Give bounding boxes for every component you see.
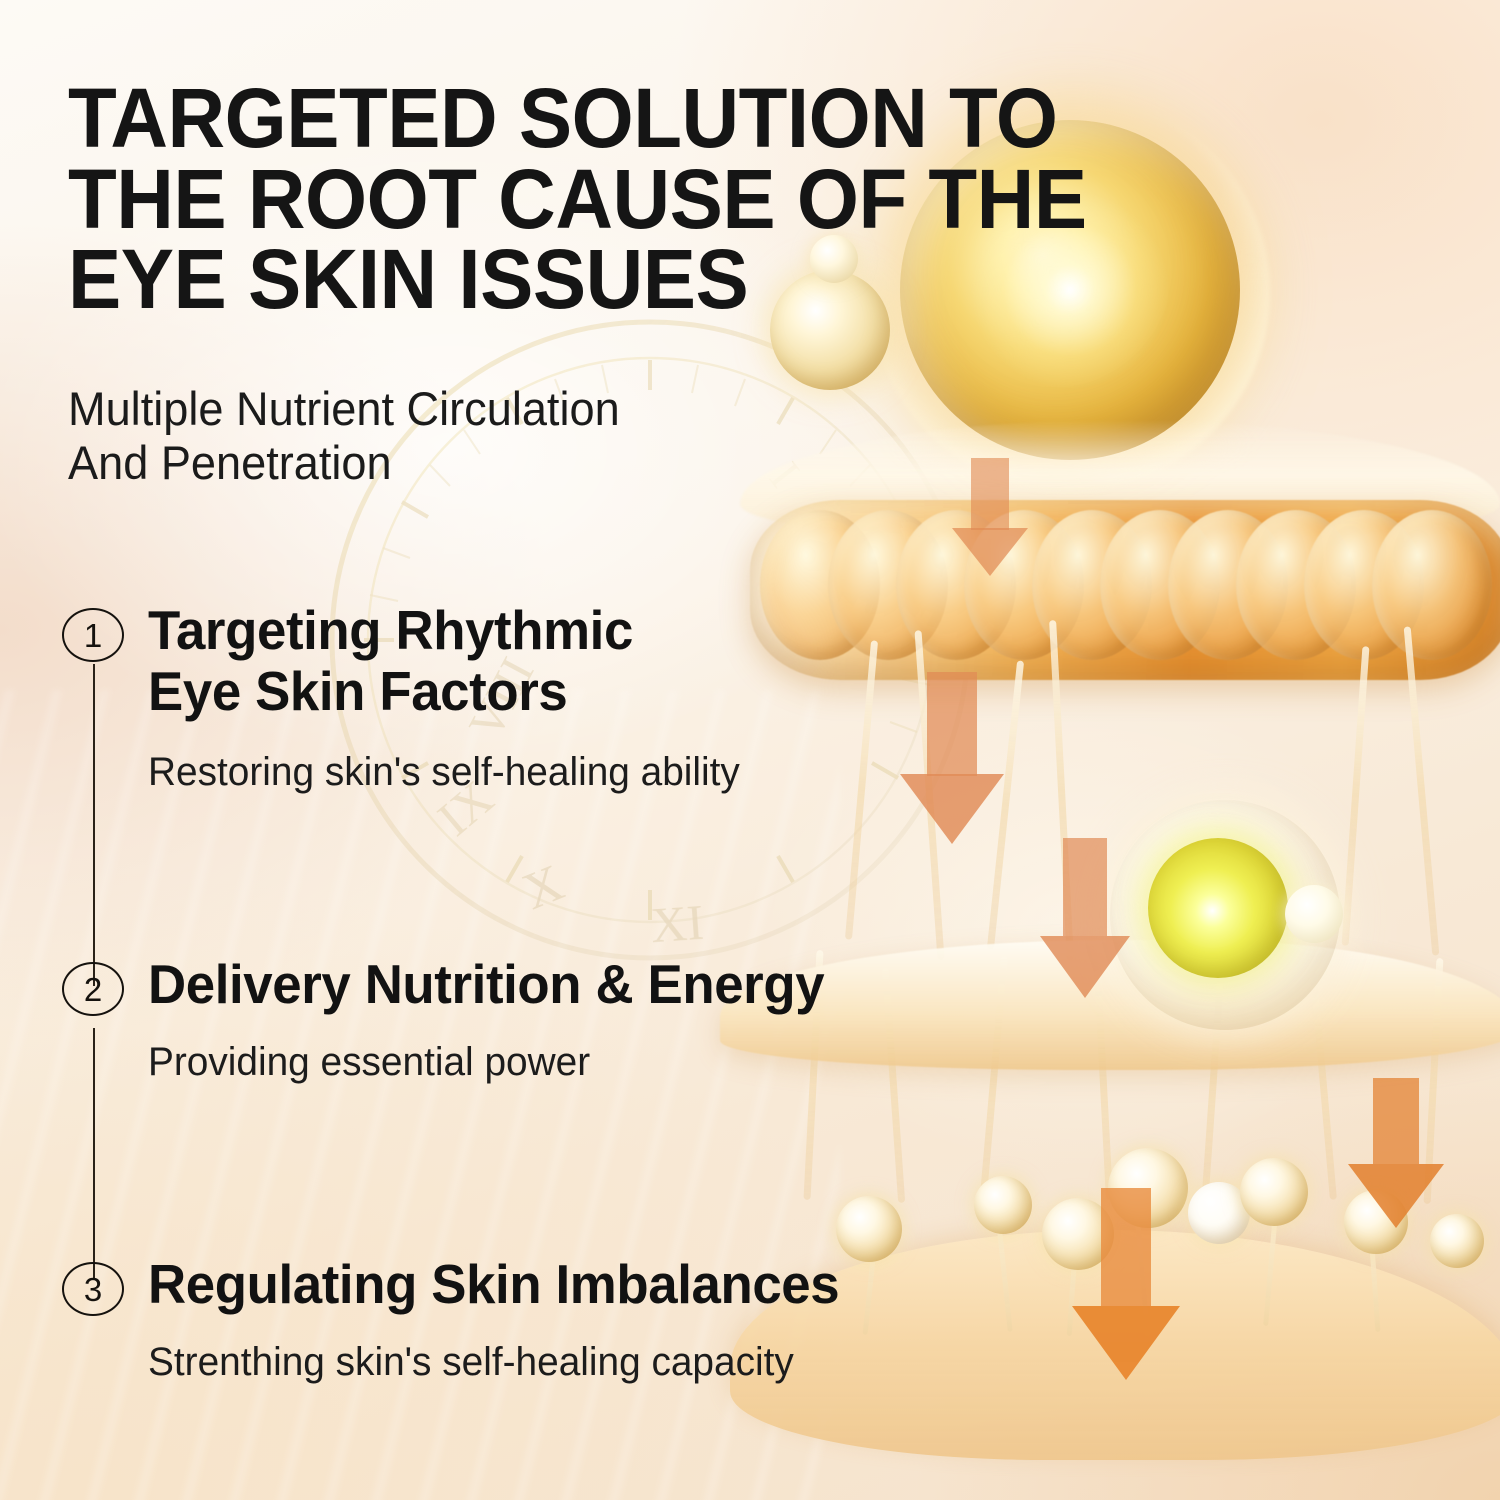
infographic-poster: I II VIII IX X XI bbox=[0, 0, 1500, 1500]
step-1-title: Targeting Rhythmic Eye Skin Factors bbox=[148, 600, 1070, 721]
step-2-title: Delivery Nutrition & Energy bbox=[148, 954, 1070, 1015]
step-3-title-line1: Regulating Skin Imbalances bbox=[148, 1254, 1070, 1315]
penetration-arrow-4-icon bbox=[1348, 1078, 1444, 1228]
step-3-title: Regulating Skin Imbalances bbox=[148, 1254, 1070, 1315]
step-list: 1 Targeting Rhythmic Eye Skin Factors Re… bbox=[0, 0, 1060, 1500]
step-1-number-badge: 1 bbox=[62, 608, 124, 662]
step-2-subtitle: Providing essential power bbox=[148, 1038, 1079, 1086]
capsule-mid-bubble-icon bbox=[1285, 885, 1343, 943]
step-1-title-line1: Targeting Rhythmic bbox=[148, 600, 1070, 661]
step-connector-2-3 bbox=[93, 1028, 95, 1278]
step-1-title-line2: Eye Skin Factors bbox=[148, 661, 1070, 722]
step-connector-1-2 bbox=[93, 664, 95, 986]
step-3-subtitle: Strenthing skin's self-healing capacity bbox=[148, 1338, 1079, 1386]
step-1-number: 1 bbox=[84, 619, 102, 652]
step-1-subtitle: Restoring skin's self-healing ability bbox=[148, 748, 1079, 796]
copy-column: TARGETED SOLUTION TO THE ROOT CAUSE OF T… bbox=[0, 0, 1060, 1500]
capsule-mid-core-icon bbox=[1148, 838, 1288, 978]
step-2-number-badge: 2 bbox=[62, 962, 124, 1016]
step-3-number: 3 bbox=[84, 1273, 102, 1306]
step-2-title-line1: Delivery Nutrition & Energy bbox=[148, 954, 1070, 1015]
step-3-number-badge: 3 bbox=[62, 1262, 124, 1316]
step-2-number: 2 bbox=[84, 973, 102, 1006]
penetration-arrow-5-icon bbox=[1072, 1188, 1180, 1380]
